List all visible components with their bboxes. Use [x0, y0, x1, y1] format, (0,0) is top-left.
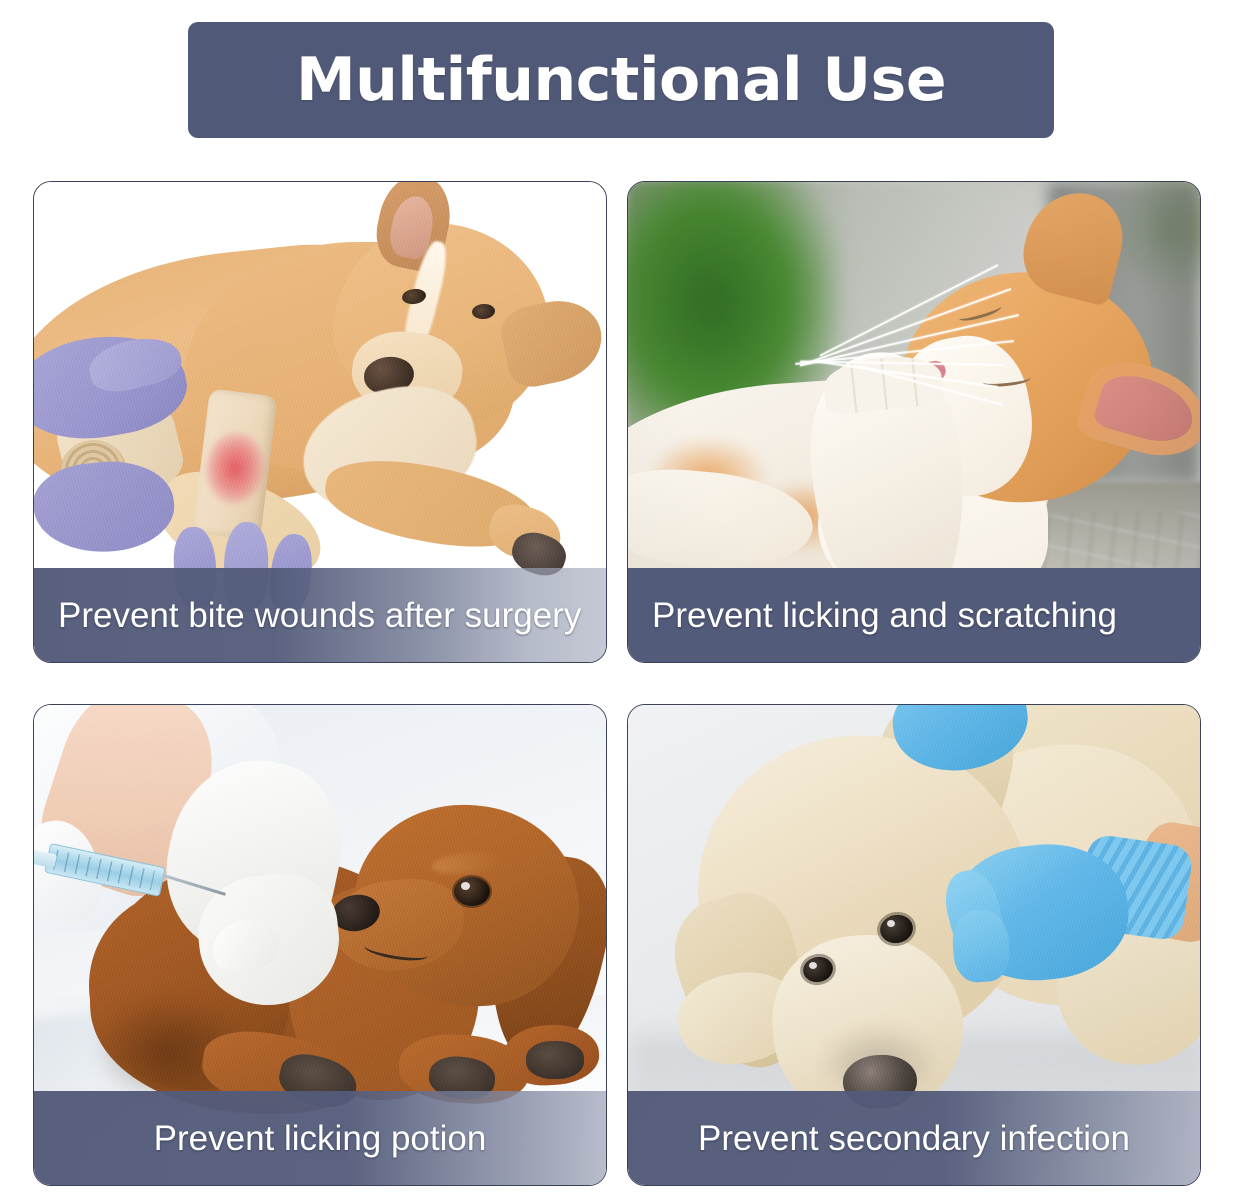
card-caption-text: Prevent licking and scratching: [628, 598, 1200, 633]
infographic-page: Multifunctional Use: [0, 0, 1234, 1201]
card-caption-bar: Prevent bite wounds after surgery: [34, 568, 606, 662]
card-caption-text: Prevent licking potion: [34, 1121, 606, 1156]
feature-card-grid: Prevent bite wounds after surgery: [33, 181, 1201, 1186]
cat-whiskers: [758, 242, 1018, 442]
card-prevent-secondary-infection[interactable]: Prevent secondary infection: [627, 704, 1201, 1186]
header-banner: Multifunctional Use: [188, 22, 1054, 138]
page-title: Multifunctional Use: [296, 50, 946, 110]
card-prevent-licking-potion[interactable]: Prevent licking potion: [33, 704, 607, 1186]
card-prevent-licking-scratching[interactable]: Prevent licking and scratching: [627, 181, 1201, 663]
card-caption-bar: Prevent licking potion: [34, 1091, 606, 1185]
card-prevent-bite-wounds[interactable]: Prevent bite wounds after surgery: [33, 181, 607, 663]
card-caption-bar: Prevent secondary infection: [628, 1091, 1200, 1185]
card-caption-text: Prevent bite wounds after surgery: [34, 598, 606, 633]
card-caption-text: Prevent secondary infection: [628, 1121, 1200, 1156]
card-caption-bar: Prevent licking and scratching: [628, 568, 1200, 662]
